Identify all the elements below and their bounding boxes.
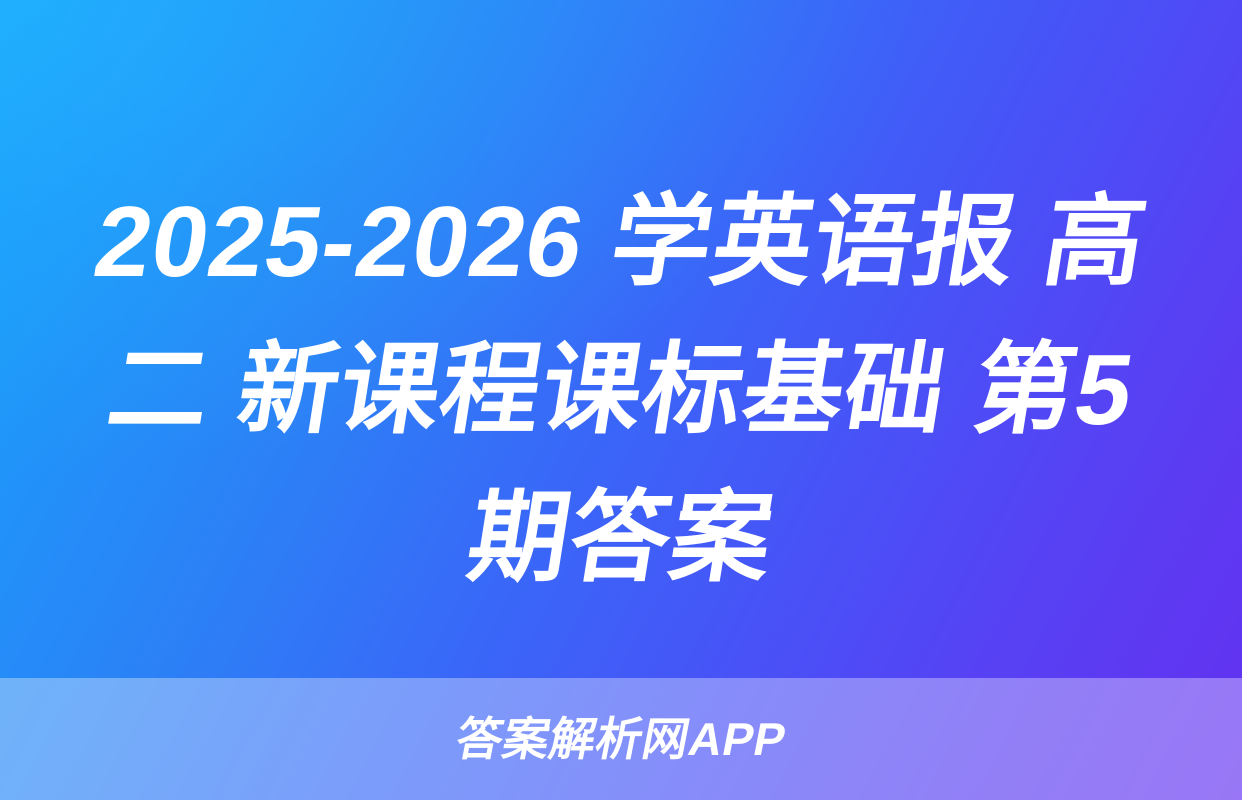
answer-poster-banner: 2025-2026 学英语报 高 二 新课程课标基础 第5 期答案 答案解析网A… xyxy=(0,0,1242,800)
footer-brand-band: 答案解析网APP xyxy=(0,678,1242,800)
app-brand-label: 答案解析网APP xyxy=(452,713,791,765)
title-line-3: 期答案 xyxy=(50,464,1191,612)
title-line-1: 2025-2026 学英语报 高 xyxy=(50,168,1191,316)
title-line-2: 二 新课程课标基础 第5 xyxy=(50,316,1191,464)
page-title: 2025-2026 学英语报 高 二 新课程课标基础 第5 期答案 xyxy=(0,168,1242,612)
